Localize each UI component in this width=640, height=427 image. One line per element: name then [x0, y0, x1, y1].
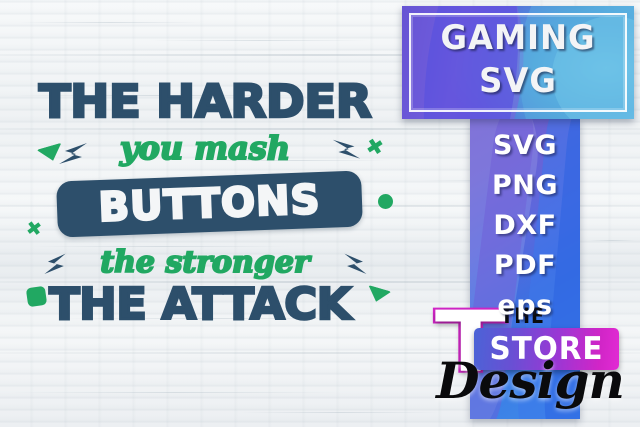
banner-title: GAMING SVG — [402, 18, 634, 101]
bolt-upper-right-icon — [330, 136, 362, 168]
banner-title-line-2: SVG — [408, 61, 628, 101]
headline-line-3: BUTTONS — [56, 177, 362, 230]
format-item: PDF — [470, 248, 580, 284]
logo-design-script: Design — [430, 354, 630, 408]
format-item: PNG — [470, 168, 580, 204]
banner-title-line-1: GAMING — [408, 18, 628, 58]
gaming-svg-banner: GAMING SVG — [402, 6, 634, 119]
dot-right-icon — [378, 194, 393, 209]
design-artwork: THE HARDER you mash ✖ BUTTONS ✖ the stro… — [0, 0, 400, 427]
format-item: eps — [470, 288, 580, 324]
bolt-lower-right-icon — [340, 250, 370, 282]
x-mark-upper-right-icon: ✖ — [364, 133, 386, 160]
x-mark-left-icon: ✖ — [25, 217, 44, 241]
headline-line-2: you mash — [60, 132, 350, 164]
product-mockup: THE HARDER you mash ✖ BUTTONS ✖ the stro… — [0, 0, 640, 427]
headline-line-1: THE HARDER — [33, 79, 376, 124]
headline-line-4: the stronger — [55, 248, 355, 278]
headline-line-5: THE ATTACK — [27, 283, 374, 327]
format-item: SVG — [470, 128, 580, 164]
format-item: DXF — [470, 208, 580, 244]
buttons-badge: BUTTONS — [56, 170, 363, 237]
